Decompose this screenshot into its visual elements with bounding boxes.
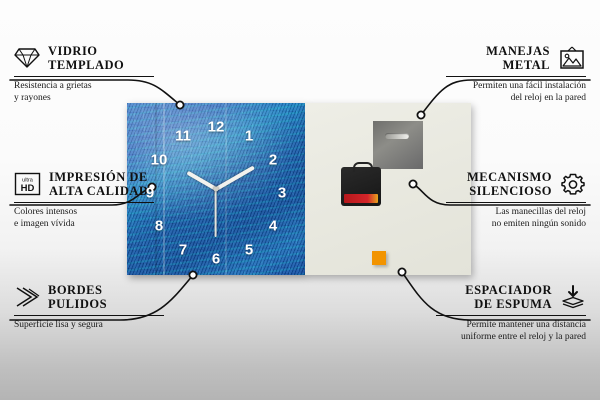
callout-header: BORDES PULIDOS	[14, 283, 164, 312]
clock-minute-hand	[215, 165, 255, 190]
clock-numeral-10: 10	[151, 153, 168, 168]
callout-description: Colores intensos e imagen vívida	[14, 207, 154, 231]
callout-divider	[436, 315, 586, 316]
clock-mechanism-box	[341, 167, 381, 206]
clock-numeral-9: 9	[146, 186, 154, 201]
polished-edges-icon	[14, 286, 40, 308]
callout-header: ESPACIADOR DE ESPUMA	[436, 283, 586, 312]
callout-header: VIDRIO TEMPLADO	[14, 44, 154, 73]
clock-numeral-6: 6	[212, 252, 220, 267]
wall-clock-front: 12 1 2 3 4 5 6 7 8 9 10 11	[127, 103, 305, 275]
callout-vidrio-templado: VIDRIO TEMPLADO Resistencia a grietas y …	[14, 44, 154, 105]
callout-header: MANEJAS METAL	[446, 44, 586, 73]
callout-title: IMPRESIÓN DE ALTA CALIDAD	[49, 170, 148, 199]
callout-title: VIDRIO TEMPLADO	[48, 44, 124, 73]
picture-frame-icon	[558, 46, 586, 70]
callout-title: ESPACIADOR DE ESPUMA	[465, 283, 552, 312]
callout-description: Superficie lisa y segura	[14, 320, 164, 332]
callout-description: Permiten una fácil instalación del reloj…	[446, 81, 586, 105]
callout-divider	[14, 76, 154, 77]
callout-header: MECANISMO SILENCIOSO	[446, 170, 586, 199]
clock-second-hand	[215, 189, 217, 237]
clock-numeral-5: 5	[245, 243, 253, 258]
clock-numeral-12: 12	[208, 120, 225, 135]
callout-title: MECANISMO SILENCIOSO	[467, 170, 552, 199]
callout-impresion-alta-calidad: ultra HD IMPRESIÓN DE ALTA CALIDAD Color…	[14, 170, 154, 231]
callout-divider	[446, 76, 586, 77]
callout-mecanismo-silencioso: MECANISMO SILENCIOSO Las manecillas del …	[446, 170, 586, 231]
callout-description: Resistencia a grietas y rayones	[14, 81, 154, 105]
product-photo: 12 1 2 3 4 5 6 7 8 9 10 11	[127, 103, 471, 278]
callout-bordes-pulidos: BORDES PULIDOS Superficie lisa y segura	[14, 283, 164, 332]
clock-center-cap	[214, 187, 219, 192]
callout-manejas-metal: MANEJAS METAL Permiten una fácil instala…	[446, 44, 586, 105]
callout-divider	[446, 202, 586, 203]
mechanism-hanger-loop	[353, 162, 373, 172]
svg-text:HD: HD	[21, 183, 35, 194]
metal-hanger-plate	[373, 121, 423, 169]
clock-numeral-7: 7	[179, 243, 187, 258]
hanger-slot	[385, 133, 409, 139]
callout-espaciador-espuma: ESPACIADOR DE ESPUMA Permite mantener un…	[436, 283, 586, 344]
clock-numeral-4: 4	[269, 219, 277, 234]
clock-numeral-2: 2	[269, 153, 277, 168]
clock-numeral-1: 1	[245, 129, 253, 144]
clock-numeral-3: 3	[278, 186, 286, 201]
gear-icon	[560, 172, 586, 197]
diamond-icon	[14, 47, 40, 69]
clock-hour-hand	[186, 171, 217, 191]
foam-spacer-icon	[560, 285, 586, 310]
infographic-canvas: 12 1 2 3 4 5 6 7 8 9 10 11	[0, 0, 600, 400]
callout-divider	[14, 202, 154, 203]
callout-divider	[14, 315, 164, 316]
callout-header: ultra HD IMPRESIÓN DE ALTA CALIDAD	[14, 170, 154, 199]
foam-spacer	[372, 251, 386, 265]
clock-numeral-11: 11	[175, 129, 191, 144]
battery	[344, 194, 378, 203]
ultra-hd-icon: ultra HD	[14, 172, 41, 196]
clock-numeral-8: 8	[155, 219, 163, 234]
callout-description: Las manecillas del reloj no emiten ningú…	[446, 207, 586, 231]
callout-description: Permite mantener una distancia uniforme …	[436, 320, 586, 344]
callout-title: BORDES PULIDOS	[48, 283, 107, 312]
callout-title: MANEJAS METAL	[486, 44, 550, 73]
